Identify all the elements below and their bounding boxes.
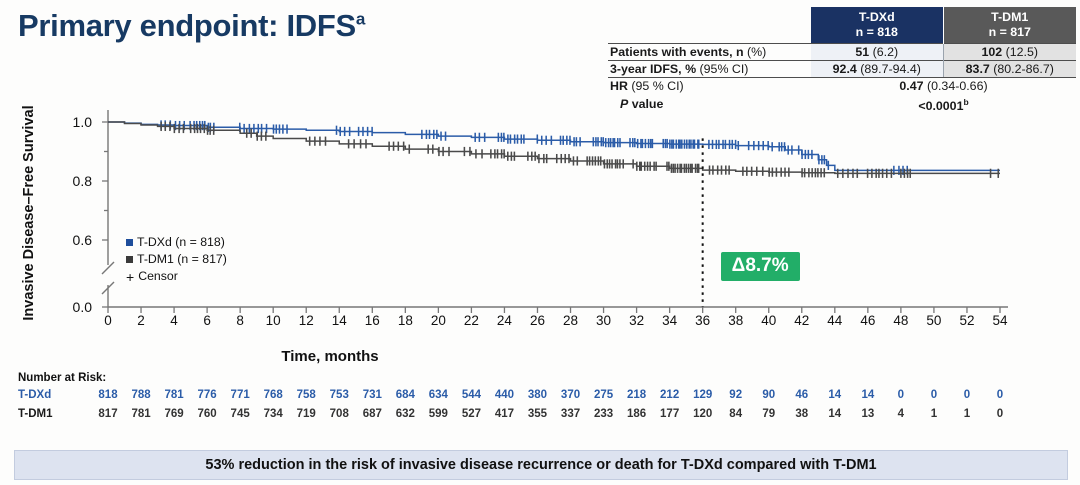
risk-value-t-dm1-month-10: 734 (258, 408, 288, 420)
cell-patients-events-tdm1-pct: (12.5) (1002, 45, 1038, 59)
risk-value-t-dxd-month-4: 781 (159, 389, 189, 401)
risk-value-t-dxd-month-36: 129 (688, 389, 718, 401)
risk-value-t-dm1-month-4: 769 (159, 408, 189, 420)
y-axis-tick-0.8: 0.8 (50, 174, 92, 188)
y-axis-tick-0.0: 0.0 (50, 300, 92, 314)
series-tdxd (108, 120, 1000, 175)
risk-value-t-dm1-month-42: 38 (787, 408, 817, 420)
risk-value-t-dm1-month-14: 708 (324, 408, 354, 420)
x-axis-tick-38: 38 (724, 314, 748, 328)
header-cell-tdxd: T-DXd n = 818 (811, 7, 943, 44)
legend-item-tdm1: T-DM1 (n = 817) (126, 251, 227, 268)
page-title-superscript: a (356, 10, 365, 29)
cell-patients-events-tdxd: 51 (6.2) (811, 44, 943, 61)
risk-row-label-tdxd: T-DXd (18, 389, 51, 401)
risk-value-t-dxd-month-8: 771 (225, 389, 255, 401)
risk-value-t-dxd-month-50: 0 (919, 389, 949, 401)
risk-value-t-dxd-month-16: 731 (357, 389, 387, 401)
x-axis-tick-2: 2 (129, 314, 153, 328)
x-axis-tick-52: 52 (955, 314, 979, 328)
risk-value-t-dxd-month-14: 753 (324, 389, 354, 401)
risk-value-t-dm1-month-2: 781 (126, 408, 156, 420)
legend-plus-icon: + (126, 271, 134, 283)
risk-value-t-dxd-month-48: 0 (886, 389, 916, 401)
header-cell-tdm1: T-DM1 n = 817 (943, 7, 1076, 44)
x-axis-tick-30: 30 (592, 314, 616, 328)
x-axis-tick-40: 40 (757, 314, 781, 328)
risk-value-t-dm1-month-52: 1 (952, 408, 982, 420)
kaplan-meier-chart: Invasive Disease–Free Survival Time, mon… (0, 60, 1080, 360)
risk-value-t-dxd-month-6: 776 (192, 389, 222, 401)
risk-value-t-dm1-month-32: 186 (622, 408, 652, 420)
table-row-patients-with-events: Patients with events, n (%) 51 (6.2) 102… (608, 44, 1076, 61)
risk-value-t-dxd-month-26: 380 (522, 389, 552, 401)
risk-value-t-dm1-month-46: 13 (853, 408, 883, 420)
cell-patients-events-tdm1-value: 102 (982, 45, 1003, 59)
x-axis-tick-24: 24 (492, 314, 516, 328)
risk-value-t-dm1-month-30: 233 (589, 408, 619, 420)
risk-row-label-tdm1: T-DM1 (18, 408, 53, 420)
x-axis-tick-36: 36 (691, 314, 715, 328)
header-tdm1-n: n = 817 (944, 25, 1077, 40)
x-axis-tick-34: 34 (658, 314, 682, 328)
x-axis-tick-16: 16 (360, 314, 384, 328)
x-axis-tick-44: 44 (823, 314, 847, 328)
risk-value-t-dm1-month-18: 632 (390, 408, 420, 420)
page-title-text: Primary endpoint: IDFS (18, 8, 356, 43)
delta-annotation-badge: Δ8.7% (721, 252, 800, 281)
risk-value-t-dxd-month-42: 46 (787, 389, 817, 401)
risk-value-t-dxd-month-52: 0 (952, 389, 982, 401)
risk-value-t-dm1-month-54: 0 (985, 408, 1015, 420)
conclusion-banner: 53% reduction in the risk of invasive di… (14, 450, 1068, 480)
header-blank-cell (608, 7, 811, 44)
risk-value-t-dxd-month-38: 92 (721, 389, 751, 401)
risk-value-t-dxd-month-34: 212 (655, 389, 685, 401)
risk-value-t-dm1-month-20: 599 (423, 408, 453, 420)
x-axis-tick-22: 22 (459, 314, 483, 328)
risk-value-t-dm1-month-12: 719 (291, 408, 321, 420)
y-axis-tick-1.0: 1.0 (50, 115, 92, 129)
risk-value-t-dxd-month-30: 275 (589, 389, 619, 401)
header-tdxd-n: n = 818 (811, 25, 943, 40)
risk-value-t-dm1-month-16: 687 (357, 408, 387, 420)
row-label-bold-part: Patients with events, n (610, 45, 744, 59)
row-label-patients-with-events: Patients with events, n (%) (608, 44, 811, 61)
legend-item-tdxd: T-DXd (n = 818) (126, 234, 227, 251)
legend-label-censor: Censor (138, 268, 178, 285)
x-axis-tick-6: 6 (195, 314, 219, 328)
risk-value-t-dxd-month-20: 634 (423, 389, 453, 401)
legend-swatch-gray-square-icon (126, 256, 133, 263)
x-axis-tick-14: 14 (327, 314, 351, 328)
table-header-row: T-DXd n = 818 T-DM1 n = 817 (608, 7, 1076, 44)
x-axis-tick-28: 28 (559, 314, 583, 328)
y-axis-tick-0.6: 0.6 (50, 233, 92, 247)
risk-value-t-dm1-month-8: 745 (225, 408, 255, 420)
cell-patients-events-tdxd-pct: (6.2) (869, 45, 898, 59)
number-at-risk-table: Number at Risk: T-DXd 818788781776771768… (18, 372, 1068, 427)
risk-row-tdxd: T-DXd 8187887817767717687587537316846345… (18, 389, 1068, 408)
series-tdm1 (108, 122, 1000, 178)
legend-label-tdxd: T-DXd (n = 818) (137, 234, 225, 251)
x-axis-tick-12: 12 (294, 314, 318, 328)
risk-value-t-dxd-month-18: 684 (390, 389, 420, 401)
risk-value-t-dm1-month-36: 120 (688, 408, 718, 420)
x-axis-tick-54: 54 (988, 314, 1012, 328)
risk-value-t-dxd-month-28: 370 (556, 389, 586, 401)
risk-value-t-dm1-month-22: 527 (456, 408, 486, 420)
risk-value-t-dm1-month-0: 817 (93, 408, 123, 420)
x-axis-tick-10: 10 (261, 314, 285, 328)
x-axis-tick-46: 46 (856, 314, 880, 328)
page-title: Primary endpoint: IDFSa (18, 8, 365, 44)
risk-value-t-dm1-month-48: 4 (886, 408, 916, 420)
risk-value-t-dm1-month-44: 14 (820, 408, 850, 420)
x-axis-tick-32: 32 (625, 314, 649, 328)
risk-value-t-dxd-month-22: 544 (456, 389, 486, 401)
risk-value-t-dxd-month-44: 14 (820, 389, 850, 401)
cell-patients-events-tdxd-value: 51 (855, 45, 869, 59)
risk-value-t-dxd-month-0: 818 (93, 389, 123, 401)
number-at-risk-title: Number at Risk: (18, 372, 1068, 384)
delta-annotation-text: Δ8.7% (732, 255, 789, 276)
legend-swatch-blue-square-icon (126, 239, 133, 246)
conclusion-banner-text: 53% reduction in the risk of invasive di… (205, 457, 876, 473)
risk-value-t-dxd-month-54: 0 (985, 389, 1015, 401)
risk-value-t-dxd-month-24: 440 (489, 389, 519, 401)
x-axis-tick-8: 8 (228, 314, 252, 328)
x-axis-tick-20: 20 (426, 314, 450, 328)
risk-value-t-dm1-month-6: 760 (192, 408, 222, 420)
x-axis-tick-42: 42 (790, 314, 814, 328)
chart-legend: T-DXd (n = 818) T-DM1 (n = 817) + Censor (126, 234, 227, 285)
header-tdxd-name: T-DXd (811, 10, 943, 25)
risk-value-t-dxd-month-40: 90 (754, 389, 784, 401)
slide-root: Primary endpoint: IDFSa T-DXd n = 818 T-… (0, 0, 1080, 485)
risk-value-t-dm1-month-38: 84 (721, 408, 751, 420)
risk-value-t-dxd-month-12: 758 (291, 389, 321, 401)
risk-value-t-dm1-month-50: 1 (919, 408, 949, 420)
risk-value-t-dxd-month-2: 788 (126, 389, 156, 401)
header-tdm1-name: T-DM1 (944, 10, 1077, 25)
cell-patients-events-tdm1: 102 (12.5) (943, 44, 1076, 61)
risk-value-t-dxd-month-10: 768 (258, 389, 288, 401)
risk-value-t-dm1-month-24: 417 (489, 408, 519, 420)
legend-label-tdm1: T-DM1 (n = 817) (137, 251, 227, 268)
x-axis-tick-26: 26 (525, 314, 549, 328)
legend-item-censor: + Censor (126, 268, 227, 285)
x-axis-tick-50: 50 (922, 314, 946, 328)
risk-row-tdm1: T-DM1 8177817697607457347197086876325995… (18, 408, 1068, 427)
x-axis-tick-0: 0 (96, 314, 120, 328)
row-label-light-part: (%) (744, 45, 767, 59)
risk-value-t-dm1-month-28: 337 (556, 408, 586, 420)
x-axis-tick-4: 4 (162, 314, 186, 328)
risk-value-t-dxd-month-46: 14 (853, 389, 883, 401)
risk-value-t-dm1-month-40: 79 (754, 408, 784, 420)
risk-value-t-dm1-month-26: 355 (522, 408, 552, 420)
x-axis-tick-18: 18 (393, 314, 417, 328)
risk-value-t-dm1-month-34: 177 (655, 408, 685, 420)
x-axis-tick-48: 48 (889, 314, 913, 328)
risk-value-t-dxd-month-32: 218 (622, 389, 652, 401)
